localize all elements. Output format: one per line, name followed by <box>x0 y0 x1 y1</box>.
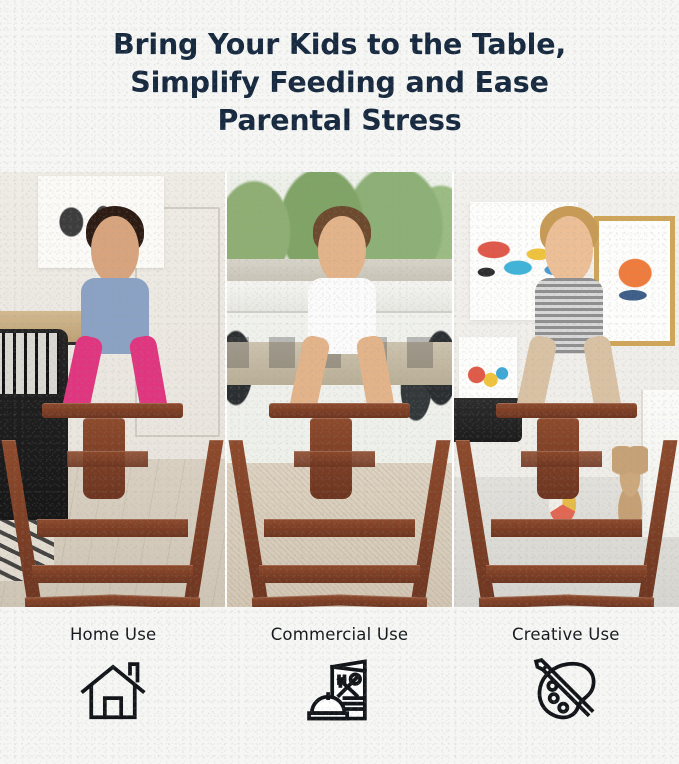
high-chair <box>479 337 655 607</box>
photo-creative-playroom <box>454 172 679 607</box>
high-chair <box>252 337 428 607</box>
photo-commercial-patio <box>227 172 452 607</box>
infographic-page: Bring Your Kids to the Table, Simplify F… <box>0 0 679 764</box>
use-case-creative: Creative Use <box>453 625 679 764</box>
headline-line-3: Parental Stress <box>0 102 679 140</box>
paint-palette-brush-icon <box>531 656 601 724</box>
house-icon <box>78 656 148 724</box>
use-case-label: Home Use <box>70 625 156 644</box>
use-case-row: Home Use Commercial Use <box>0 625 679 764</box>
headline-line-1: Bring Your Kids to the Table, <box>0 26 679 64</box>
use-case-label: Creative Use <box>512 625 620 644</box>
use-case-home: Home Use <box>0 625 226 764</box>
restaurant-menu-cloche-icon <box>304 656 374 724</box>
use-case-label: Commercial Use <box>271 625 409 644</box>
high-chair <box>25 337 201 607</box>
photo-gallery <box>0 172 679 607</box>
photo-home-dining-room <box>0 172 225 607</box>
use-case-commercial: Commercial Use <box>226 625 452 764</box>
headline-line-2: Simplify Feeding and Ease <box>0 64 679 102</box>
page-title: Bring Your Kids to the Table, Simplify F… <box>0 26 679 140</box>
